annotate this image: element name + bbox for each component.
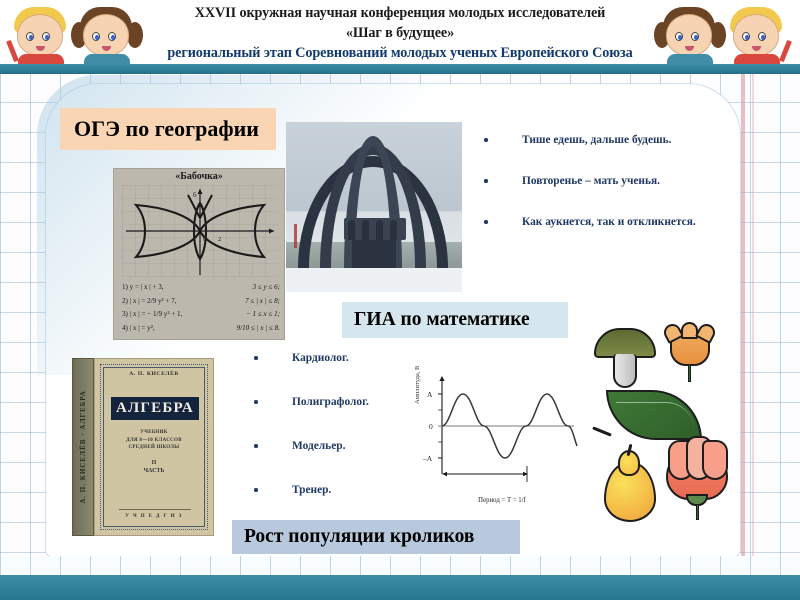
bottom-grid-strip	[0, 556, 800, 576]
chart-period-annotation: Период = T = 1/f	[446, 497, 558, 504]
header-teal-band	[0, 64, 800, 74]
book-publisher-rule	[119, 509, 191, 510]
butterfly-equation-row: 3) | x | = − 1/9 y² + 1, − 1 ≤ x ≤ 1;	[118, 308, 284, 322]
svg-text:6: 6	[193, 191, 197, 199]
kid-boy-blond-icon	[6, 2, 76, 68]
yellow-pear-icon	[604, 450, 660, 528]
monument-snow-ground	[286, 268, 462, 292]
list-item: Повторенье – мать ученья.	[478, 173, 718, 190]
butterfly-plot-svg: 6 0 2	[122, 185, 278, 277]
butterfly-graph-figure: «Бабочка» 6 0 2	[113, 168, 285, 340]
butterfly-equation-row: 1) y = | x | + 3, 3 ≤ y ≤ 6;	[118, 281, 284, 295]
book-spine-text: А. П. КИСЕЛЁВ · АЛГЕБРА	[79, 390, 87, 504]
conference-title-line2: «Шаг в будущее»	[120, 23, 680, 43]
equation-rhs: 3 ≤ y ≤ 6;	[253, 281, 281, 295]
proverbs-list: Тише едешь, дальше будешь. Повторенье – …	[478, 132, 718, 255]
monument-statue-group	[344, 218, 406, 240]
chart-y-axis-label: Амплитуда, В	[414, 366, 421, 404]
conference-title-line3: региональный этап Соревнований молодых у…	[120, 43, 680, 63]
list-item: Как аукнется, так и откликнется.	[478, 214, 718, 231]
kid-girl-brown-icon	[72, 2, 142, 68]
pink-tulip-icon	[664, 432, 734, 522]
equation-rhs: 7 ≤ | x | ≤ 8;	[245, 295, 280, 309]
kid-boy-blond-2-icon	[722, 2, 792, 68]
equation-lhs: 2) | x | = 2/9 y² + 7,	[122, 295, 177, 309]
book-subtitle: УЧЕБНИК ДЛЯ 8—10 КЛАССОВ СРЕДНЕЙ ШКОЛЫ	[95, 429, 213, 452]
list-item: Кардиолог.	[248, 350, 438, 367]
book-title-bar: АЛГЕБРА	[111, 397, 199, 420]
equation-lhs: 1) y = | x | + 3,	[122, 281, 164, 295]
conference-title-line1: XXVII окружная научная конференция молод…	[120, 3, 680, 23]
heading-oge-geography: ОГЭ по географии	[60, 108, 276, 150]
mushroom-icon	[594, 328, 658, 390]
svg-text:0: 0	[429, 422, 433, 431]
orange-tulip-icon	[662, 322, 720, 388]
professions-list: Кардиолог. Полиграфолог. Модельер. Трене…	[248, 350, 438, 526]
nature-clipart-group	[588, 318, 738, 528]
book-front-cover: А. П. КИСЕЛЁВ АЛГЕБРА УЧЕБНИК ДЛЯ 8—10 К…	[94, 358, 214, 536]
heading-rabbit-population: Рост популяции кроликов	[232, 520, 520, 554]
equation-rhs: − 1 ≤ x ≤ 1;	[246, 308, 280, 322]
butterfly-figure-title: «Бабочка»	[114, 171, 284, 182]
presentation-slide: XXVII окружная научная конференция молод…	[0, 0, 800, 600]
equation-lhs: 3) | x | = − 1/9 y² + 1,	[122, 308, 182, 322]
butterfly-equation-row: 4) | x | = y², 9/10 ≤ | x | ≤ 8.	[118, 322, 284, 336]
svg-text:0: 0	[203, 236, 206, 243]
book-spine: А. П. КИСЕЛЁВ · АЛГЕБРА	[72, 358, 94, 536]
butterfly-equation-row: 2) | x | = 2/9 y² + 7, 7 ≤ | x | ≤ 8;	[118, 295, 284, 309]
monument-photo	[286, 122, 462, 292]
book-publisher: У Ч П Е Д Г И З	[95, 514, 213, 519]
equation-lhs: 4) | x | = y²,	[122, 322, 155, 336]
svg-text:–A: –A	[422, 454, 433, 463]
butterfly-plot: 6 0 2	[122, 185, 278, 277]
book-title: АЛГЕБРА	[116, 400, 194, 417]
heading-gia-math: ГИА по математике	[342, 302, 568, 338]
paper-margin-line-secondary	[752, 72, 754, 564]
book-part: II ЧАСТЬ	[95, 459, 213, 475]
equation-rhs: 9/10 ≤ | x | ≤ 8.	[237, 322, 280, 336]
monument-red-pole	[294, 224, 297, 248]
algebra-book-cover: А. П. КИСЕЛЁВ · АЛГЕБРА А. П. КИСЕЛЁВ АЛ…	[72, 358, 214, 536]
sine-wave-chart: Амплитуда, В A 0 –A Период = T = 1/f	[412, 370, 580, 510]
svg-text:A: A	[427, 390, 433, 399]
book-author: А. П. КИСЕЛЁВ	[95, 371, 213, 377]
butterfly-equations: 1) y = | x | + 3, 3 ≤ y ≤ 6; 2) | x | = …	[118, 281, 284, 335]
svg-text:2: 2	[218, 236, 221, 243]
conference-title: XXVII окружная научная конференция молод…	[120, 3, 680, 63]
footer-teal-band	[0, 575, 800, 600]
sine-chart-svg: A 0 –A	[412, 370, 580, 494]
list-item: Тише едешь, дальше будешь.	[478, 132, 718, 149]
monument-pedestal	[352, 238, 396, 272]
slide-header: XXVII окружная научная конференция молод…	[0, 0, 800, 72]
list-item: Тренер.	[248, 482, 438, 499]
kid-girl-brown-2-icon	[655, 2, 725, 68]
list-item: Модельер.	[248, 438, 438, 455]
list-item: Полиграфолог.	[248, 394, 438, 411]
